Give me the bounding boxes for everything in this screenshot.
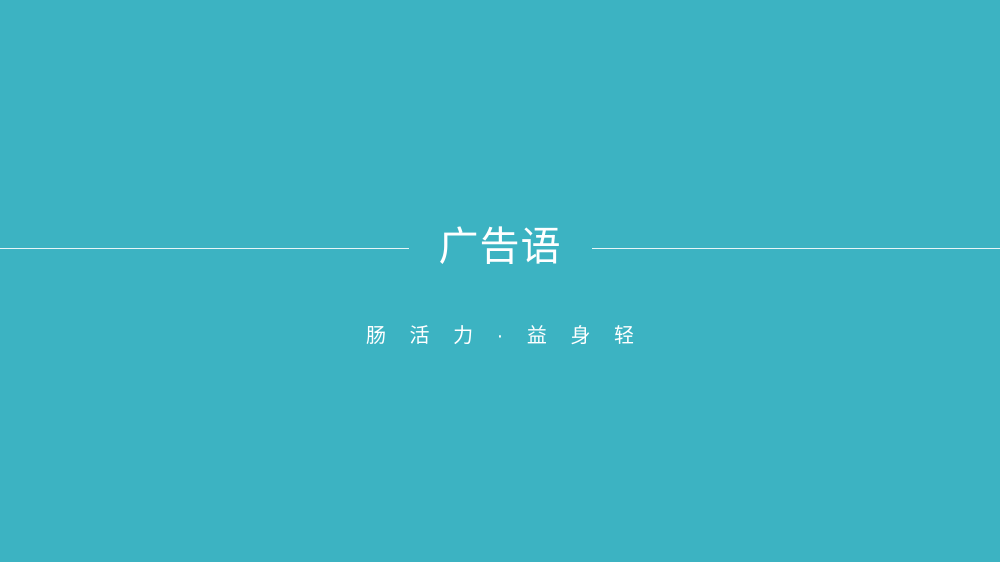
divider-line-left bbox=[0, 248, 409, 249]
page-title: 广告语 bbox=[409, 227, 592, 267]
divider-line-right bbox=[592, 248, 1000, 249]
slide-canvas: 广告语 肠 活 力 · 益 身 轻 bbox=[0, 0, 1000, 562]
slide-subtitle: 肠 活 力 · 益 身 轻 bbox=[0, 322, 1000, 350]
title-band: 广告语 bbox=[0, 225, 1000, 271]
